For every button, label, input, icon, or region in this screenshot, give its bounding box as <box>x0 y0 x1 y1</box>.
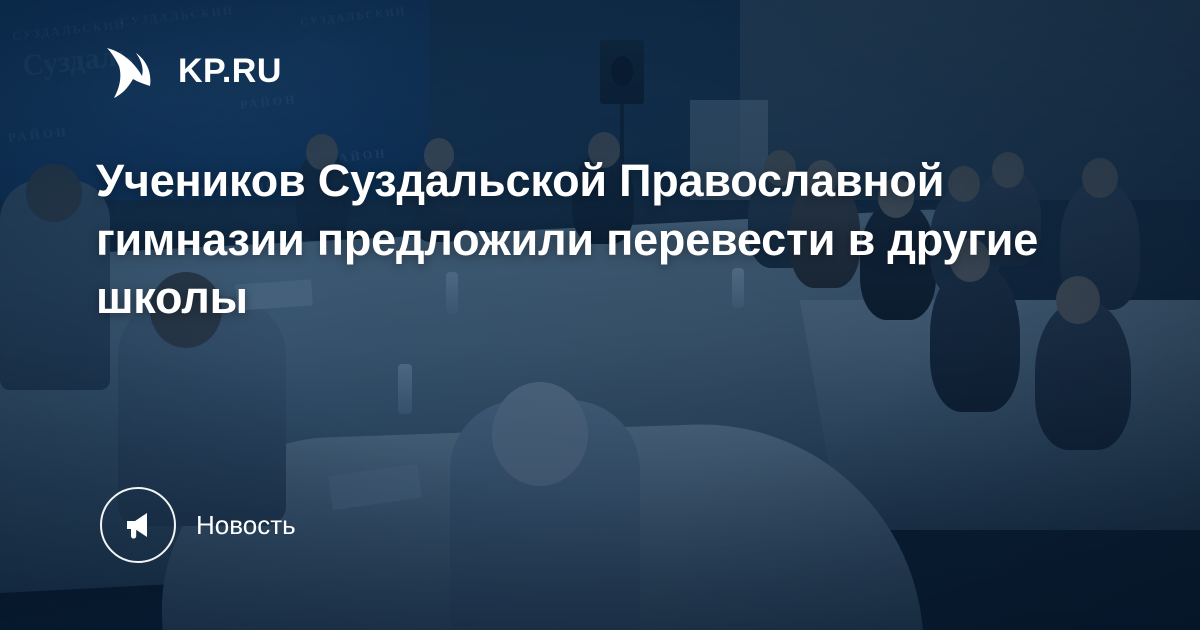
brand-name: KP.RU <box>178 54 282 88</box>
badge-label: Новость <box>196 512 296 538</box>
headline: Учеников Суздальской Православной гимназ… <box>96 152 1056 328</box>
social-share-card: Суздаль СУЗДАЛЬСКИЙ РАЙОН СУЗДАЛЬСКИЙ РА… <box>0 0 1200 630</box>
brand-logo[interactable]: KP.RU <box>100 40 282 102</box>
megaphone-icon <box>100 487 176 563</box>
kp-bird-icon <box>100 40 162 102</box>
news-badge[interactable]: Новость <box>100 487 296 563</box>
